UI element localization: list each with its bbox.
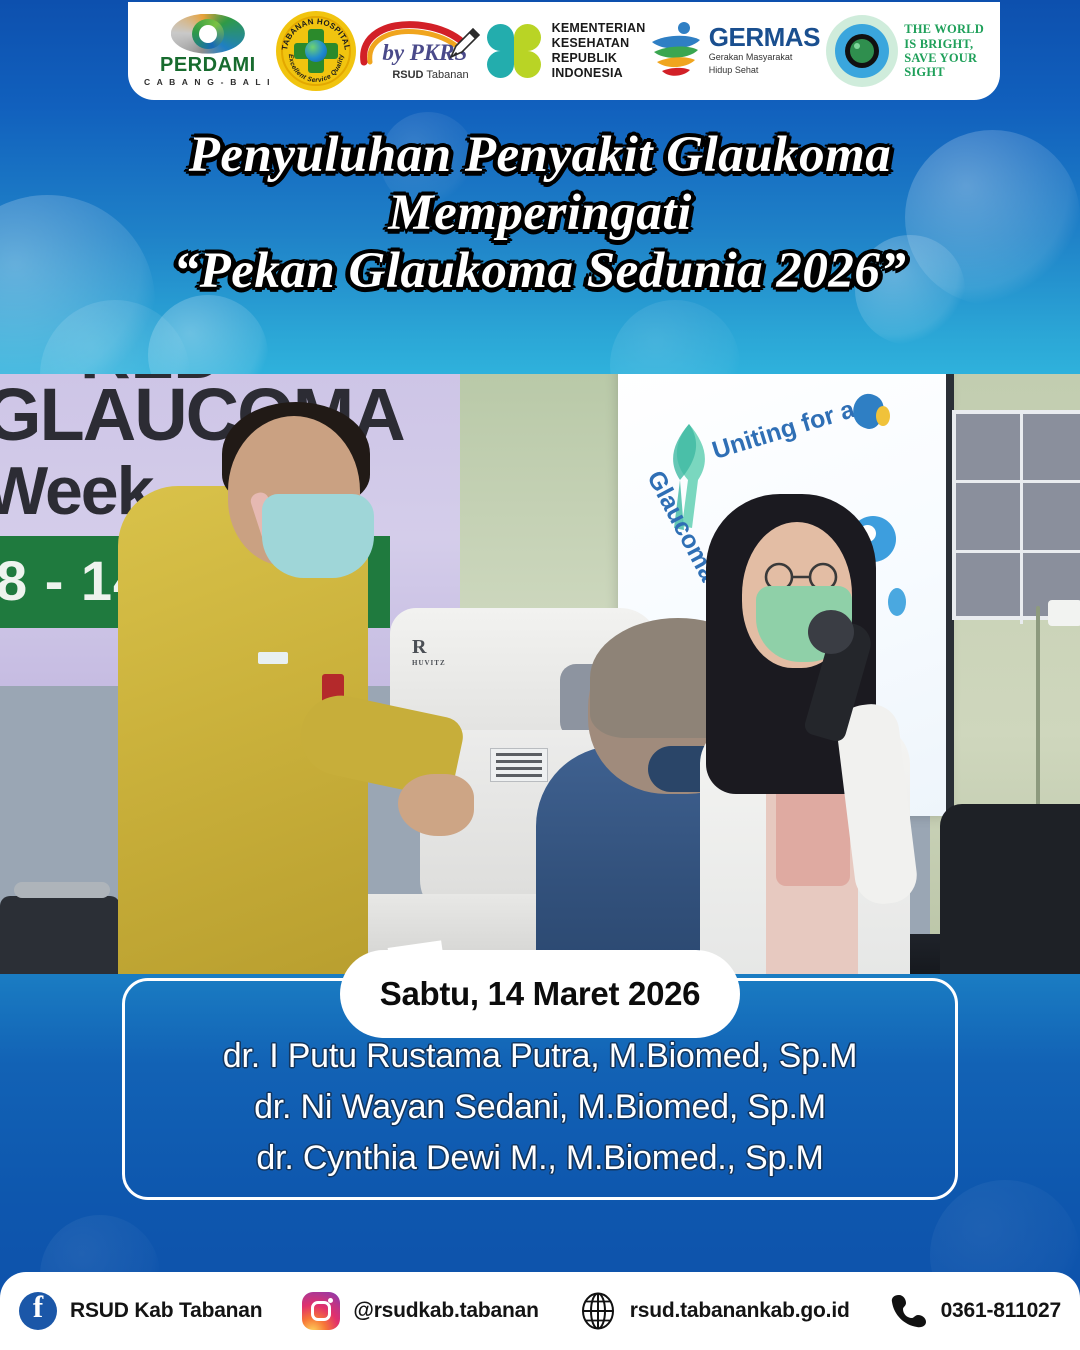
instagram-icon[interactable] [302, 1292, 340, 1330]
device-brand-letter: R [412, 636, 426, 658]
photo-chair-left [0, 896, 120, 974]
hospital-seal-icon: TABANAN HOSPITAL Excellent Service Quali… [276, 11, 356, 91]
globe-icon[interactable] [579, 1292, 617, 1330]
world-sight-line3: SAVE YOUR [904, 51, 984, 65]
kemenkes-logo: KEMENTERIAN KESEHATAN REPUBLIK INDONESIA [485, 8, 646, 94]
wall-socket [1048, 600, 1080, 626]
staff-face-mask [262, 494, 374, 578]
autorefractor-label [490, 748, 548, 782]
germas-figure-icon [650, 20, 702, 82]
date-badge-label: Sabtu, 14 Maret 2026 [380, 975, 701, 1013]
screen-text-line1: Uniting for a [709, 395, 858, 466]
title-line-2: Memperingati [0, 184, 1080, 242]
event-photo: RLD GLAUCOMA Week 8 - 14 M Uniting for a… [0, 374, 1080, 974]
title-line-3: “Pekan Glaukoma Sedunia 2026” [0, 242, 1080, 300]
germas-logo: GERMAS Gerakan Masyarakat Hidup Sehat [650, 8, 820, 94]
footer-phone[interactable]: 0361-811027 [890, 1292, 1061, 1330]
poster-title: Penyuluhan Penyakit Glaukoma Memperingat… [0, 126, 1080, 300]
pkrs-subtitle-bold: RSUD [392, 69, 423, 81]
germas-subtitle1: Gerakan Masyarakat [709, 52, 820, 63]
pkrs-logo: by PKRS RSUD Tabanan [360, 12, 480, 90]
photo-chair-armrest [14, 882, 110, 898]
kemenkes-line3: REPUBLIK [552, 51, 646, 66]
facebook-label: RSUD Kab Tabanan [70, 1299, 262, 1323]
logo-bar: PERDAMI C A B A N G - B A L I TABANAN HO… [128, 2, 1000, 100]
staff-hand [398, 774, 474, 836]
contact-footer: RSUD Kab Tabanan @rsudkab.tabanan rsud.t… [0, 1272, 1080, 1350]
screen-blob [888, 588, 906, 616]
tabanan-hospital-logo: TABANAN HOSPITAL Excellent Service Quali… [276, 8, 356, 94]
date-badge: Sabtu, 14 Maret 2026 [340, 950, 740, 1038]
facebook-icon[interactable] [19, 1292, 57, 1330]
pencil-icon [448, 26, 482, 60]
germas-text: GERMAS Gerakan Masyarakat Hidup Sehat [709, 25, 820, 76]
wall-shelves [952, 410, 1080, 620]
staff-badge [258, 652, 288, 664]
world-sight-globe-icon [824, 13, 900, 89]
germas-wordmark: GERMAS [709, 25, 820, 50]
speaker-name: dr. Ni Wayan Sedani, M.Biomed, Sp.M [254, 1083, 826, 1132]
world-sight-text: THE WORLD IS BRIGHT, SAVE YOUR SIGHT [904, 22, 984, 80]
website-label: rsud.tabanankab.go.id [630, 1299, 850, 1323]
pkrs-subtitle-rest: Tabanan [426, 69, 468, 81]
footer-website[interactable]: rsud.tabanankab.go.id [579, 1292, 850, 1330]
perdami-subtitle: C A B A N G - B A L I [144, 76, 272, 89]
world-sight-line1: THE WORLD [904, 22, 984, 36]
phone-icon[interactable] [890, 1292, 928, 1330]
speaker-name: dr. I Putu Rustama Putra, M.Biomed, Sp.M [223, 1032, 857, 1081]
footer-instagram[interactable]: @rsudkab.tabanan [302, 1292, 538, 1330]
pkrs-subtitle: RSUD Tabanan [392, 69, 468, 81]
poster-root: PERDAMI C A B A N G - B A L I TABANAN HO… [0, 0, 1080, 1350]
screen-blob [876, 406, 890, 426]
kemenkes-line4: INDONESIA [552, 66, 646, 81]
perdami-title: PERDAMI [160, 55, 256, 75]
perdami-eye-icon [171, 14, 245, 54]
device-brand-name: HUVITZ [412, 659, 446, 667]
phone-label: 0361-811027 [941, 1299, 1061, 1323]
microphone-head [808, 610, 854, 654]
world-sight-logo: THE WORLD IS BRIGHT, SAVE YOUR SIGHT [824, 8, 984, 94]
world-sight-line4: SIGHT [904, 65, 984, 79]
device-brand-mark: R HUVITZ [412, 636, 446, 667]
speaker-name: dr. Cynthia Dewi M., M.Biomed., Sp.M [256, 1134, 823, 1183]
title-line-1: Penyuluhan Penyakit Glaukoma [0, 126, 1080, 184]
world-sight-line2: IS BRIGHT, [904, 37, 984, 51]
kemenkes-text: KEMENTERIAN KESEHATAN REPUBLIK INDONESIA [552, 21, 646, 82]
instagram-label: @rsudkab.tabanan [353, 1299, 538, 1323]
kemenkes-line1: KEMENTERIAN [552, 21, 646, 36]
footer-facebook[interactable]: RSUD Kab Tabanan [19, 1292, 262, 1330]
kemenkes-clover-icon [485, 22, 543, 80]
photo-chair-right [940, 804, 1080, 974]
germas-subtitle2: Hidup Sehat [709, 65, 820, 76]
perdami-logo: PERDAMI C A B A N G - B A L I [144, 8, 272, 94]
kemenkes-line2: KESEHATAN [552, 36, 646, 51]
